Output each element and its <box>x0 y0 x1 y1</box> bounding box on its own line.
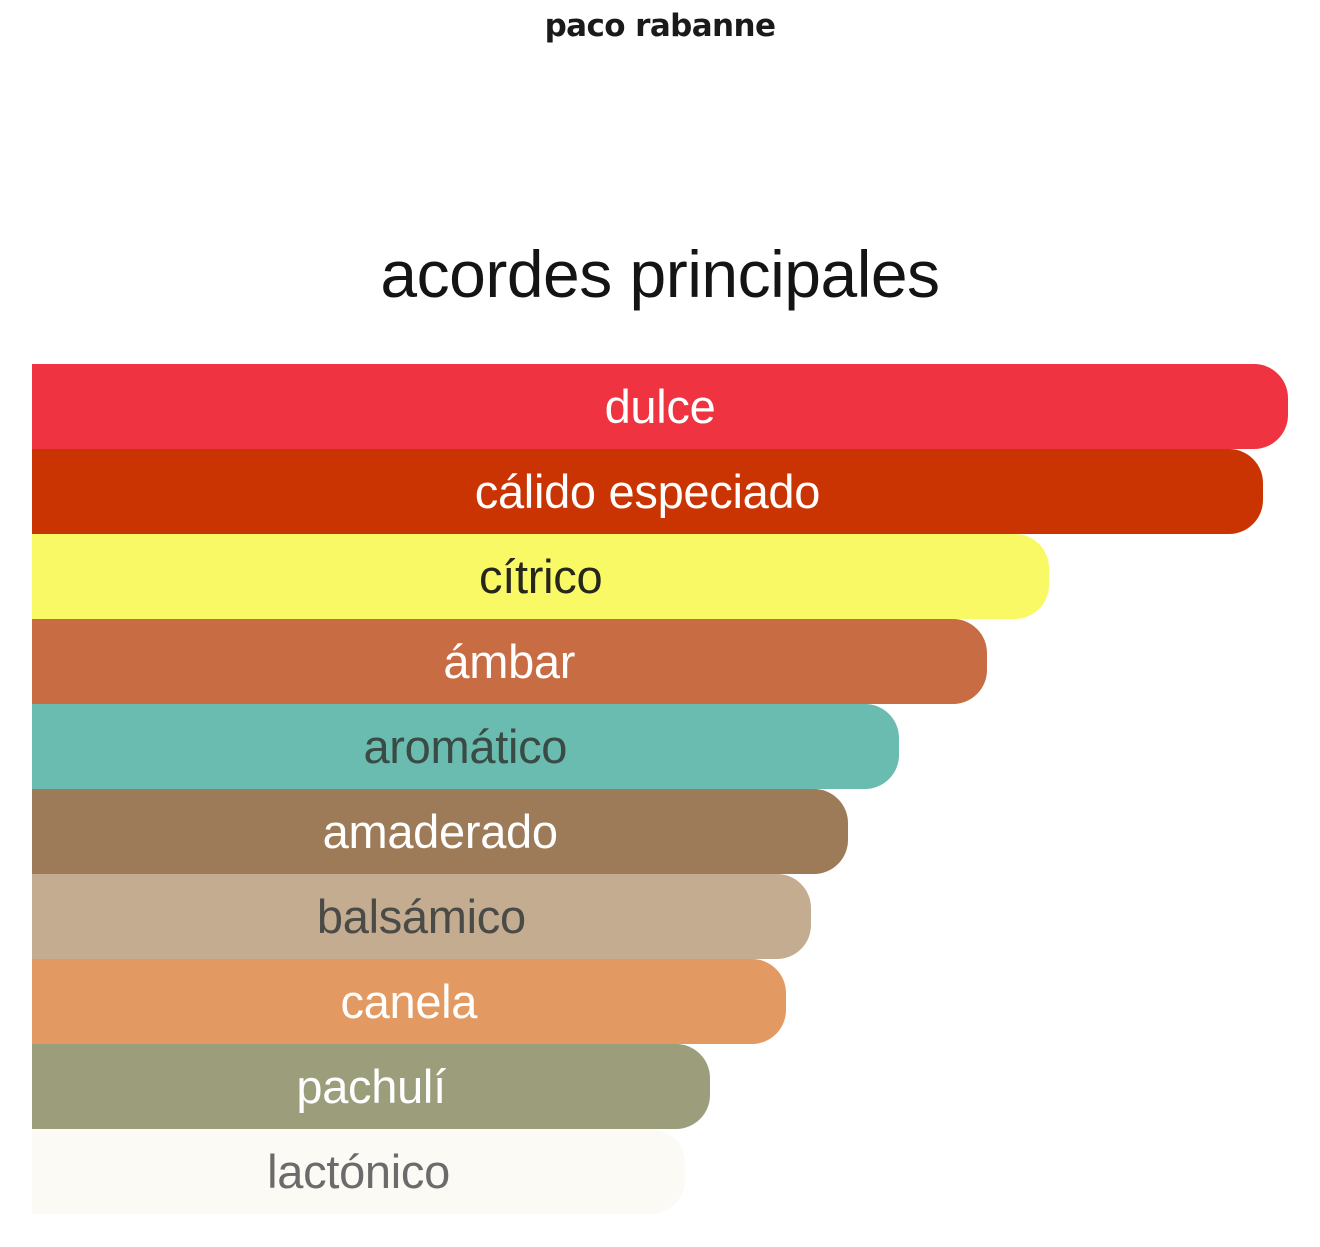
accords-chart-page: paco rabanne acordes principales dulcecá… <box>0 0 1320 1247</box>
page-title: acordes principales <box>0 240 1320 309</box>
accord-bar-row: lactónico <box>32 1129 1288 1214</box>
brand-header: paco rabanne <box>0 0 1320 52</box>
accord-bar-fill <box>32 1129 685 1214</box>
accord-bar-fill <box>32 364 1288 449</box>
accord-bar-fill <box>32 449 1263 534</box>
accord-bar-fill <box>32 874 811 959</box>
accord-bar-row: aromático <box>32 704 1288 789</box>
accord-bar-row: canela <box>32 959 1288 1044</box>
accord-bar-row: pachulí <box>32 1044 1288 1129</box>
accord-bar-row: cítrico <box>32 534 1288 619</box>
accords-bar-chart: dulcecálido especiadocítricoámbararomáti… <box>32 364 1288 1214</box>
accord-bar-row: cálido especiado <box>32 449 1288 534</box>
accord-bar-fill <box>32 534 1049 619</box>
accord-bar-row: amaderado <box>32 789 1288 874</box>
accord-bar-row: dulce <box>32 364 1288 449</box>
accord-bar-fill <box>32 959 786 1044</box>
accord-bar-fill <box>32 619 987 704</box>
accord-bar-fill <box>32 704 899 789</box>
accord-bar-fill <box>32 789 848 874</box>
accord-bar-row: balsámico <box>32 874 1288 959</box>
accord-bar-fill <box>32 1044 710 1129</box>
accord-bar-row: ámbar <box>32 619 1288 704</box>
brand-logo: paco rabanne <box>545 11 776 42</box>
